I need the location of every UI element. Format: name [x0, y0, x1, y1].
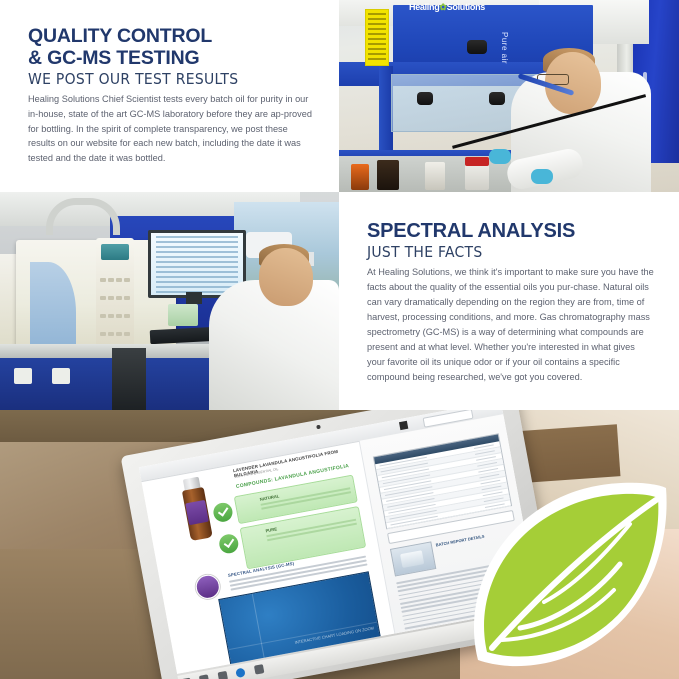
- badge-pure-label: PURE: [265, 526, 277, 533]
- quality-text-inner: QUALITY CONTROL & GC-MS TESTING WE POST …: [0, 0, 339, 166]
- taskbar-icon-search[interactable]: [199, 674, 209, 679]
- hood-knob-left: [417, 92, 433, 105]
- blue-glove-right: [531, 169, 553, 184]
- quality-subheading: WE POST OUR TEST RESULTS: [28, 71, 313, 88]
- tissue-box: [168, 304, 198, 326]
- blue-glove-left: [489, 149, 511, 164]
- hood-brand-text: Healing✿Solutions: [409, 2, 485, 13]
- report-left-column: LAVENDER LAVANDULA ANGUSTIFOLIA FROM BUL…: [141, 441, 394, 674]
- check-icon-natural: [212, 501, 234, 523]
- reagent-bottle-white: [425, 162, 445, 190]
- brand-circle-logo: [194, 573, 222, 601]
- leaf-logo: [458, 478, 673, 673]
- instrument-keys: [99, 270, 131, 340]
- hood-knob-mid: [489, 92, 505, 105]
- brand-word-healing: Healing: [409, 2, 439, 12]
- browser-tab-icon[interactable]: [399, 421, 408, 430]
- taskbar-icon-folder[interactable]: [217, 671, 227, 679]
- reagent-bottle-orange: [351, 164, 369, 190]
- spectral-text-inner: SPECTRAL ANALYSIS JUST THE FACTS At Heal…: [339, 192, 679, 385]
- taskbar-icon-app[interactable]: [254, 664, 264, 674]
- brand-word-solutions: Solutions: [447, 2, 485, 12]
- monitor-stand: [186, 292, 202, 304]
- check-icon-pure: [218, 533, 240, 555]
- hood-control-module: [467, 40, 487, 54]
- reagent-bottle-amber: [377, 160, 399, 190]
- brand-leaf-icon: ✿: [439, 2, 446, 12]
- spectral-body-text: At Healing Solutions, we think it's impo…: [367, 265, 655, 384]
- infographic-root: QUALITY CONTROL & GC-MS TESTING WE POST …: [0, 0, 679, 679]
- essential-oil-bottle-image: [178, 476, 215, 542]
- spectral-subheading: JUST THE FACTS: [367, 244, 655, 261]
- bottle-label: [185, 500, 209, 525]
- fume-hood-lab-photo: Healing✿Solutions Pure air: [339, 0, 679, 192]
- taskbar-icon-browser[interactable]: [236, 667, 246, 677]
- reagent-bottle-red-cap: [465, 157, 489, 166]
- spectral-analysis-text-panel: SPECTRAL ANALYSIS JUST THE FACTS At Heal…: [339, 192, 679, 410]
- scientist-head-2: [259, 248, 313, 306]
- quality-control-text-panel: QUALITY CONTROL & GC-MS TESTING WE POST …: [0, 0, 339, 192]
- quality-heading: QUALITY CONTROL & GC-MS TESTING: [28, 26, 313, 70]
- wall-outlet-1: [14, 368, 32, 384]
- hazard-warning-label: [365, 9, 389, 66]
- badge-pure-lines: [266, 519, 356, 538]
- wall-outlet-2: [52, 368, 70, 384]
- product-thumbnail: [390, 541, 436, 576]
- spectral-heading: SPECTRAL ANALYSIS: [367, 220, 655, 242]
- tablet-results-photo: LAVENDER LAVANDULA ANGUSTIFOLIA FROM BUL…: [0, 410, 679, 679]
- hood-model-text: Pure air: [500, 32, 509, 64]
- gcms-instrument-photo: [0, 192, 339, 410]
- instrument-lcd-display: [101, 244, 129, 260]
- quality-body-text: Healing Solutions Chief Scientist tests …: [28, 92, 313, 167]
- pc-tower: [112, 348, 146, 410]
